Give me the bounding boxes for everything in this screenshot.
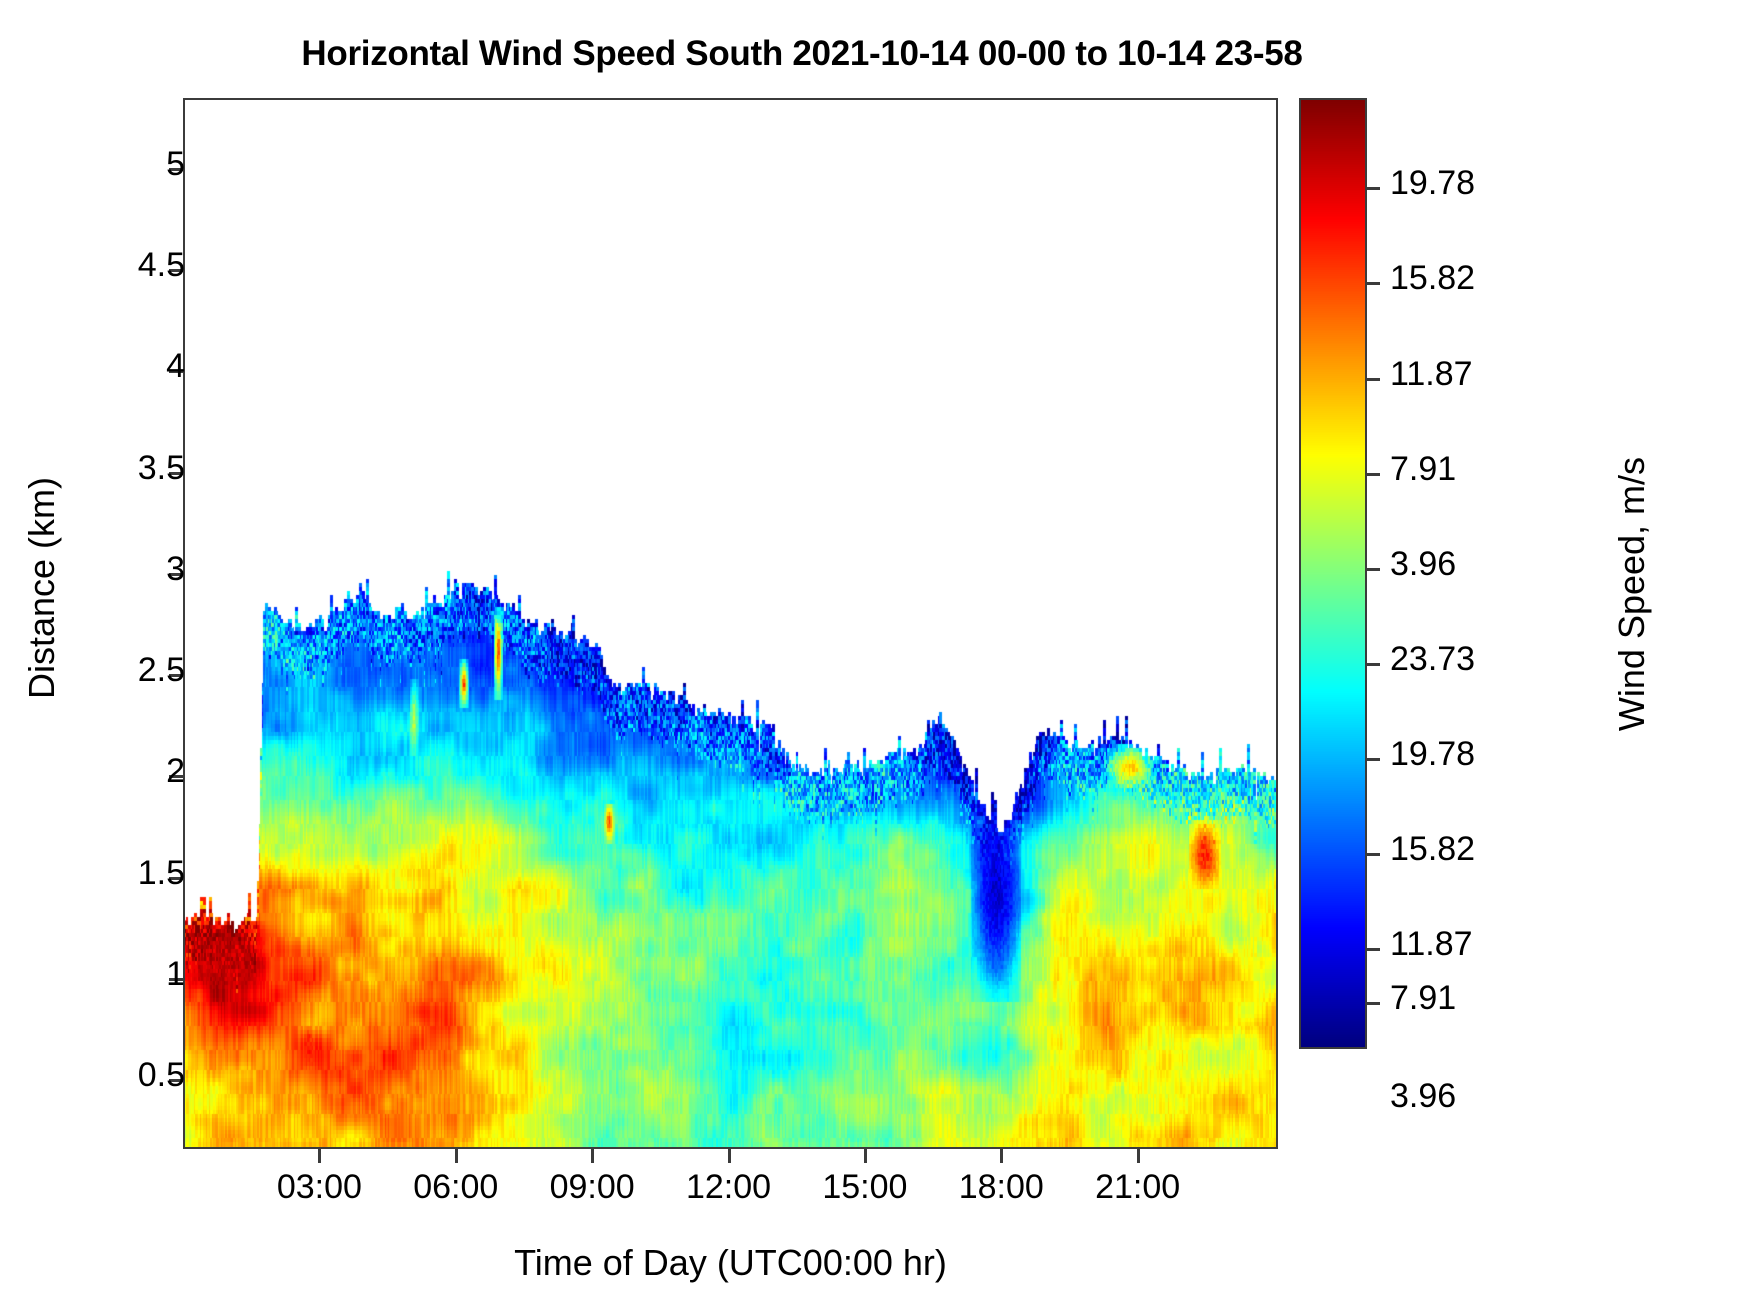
- x-tick-mark: [455, 1149, 458, 1163]
- colorbar-tick-label: 11.87: [1390, 355, 1473, 394]
- colorbar-tick-label: 3.96: [1390, 1077, 1456, 1116]
- colorbar-tick-mark: [1367, 948, 1380, 951]
- x-tick-mark: [591, 1149, 594, 1163]
- colorbar-tick-label: 19.78: [1390, 164, 1475, 203]
- colorbar-tick-mark: [1367, 853, 1380, 856]
- x-tick-label: 03:00: [277, 1168, 362, 1207]
- x-tick-mark: [318, 1149, 321, 1163]
- y-tick-label: 5: [166, 145, 185, 184]
- x-tick-mark: [1137, 1149, 1140, 1163]
- colorbar-tick-mark: [1367, 187, 1380, 190]
- x-tick-label: 09:00: [550, 1168, 635, 1207]
- colorbar-tick-label: 7.91: [1390, 450, 1456, 489]
- colorbar-tick-mark: [1367, 282, 1380, 285]
- colorbar-tick-mark: [1367, 473, 1380, 476]
- y-tick-label: 2: [166, 752, 185, 791]
- colorbar-tick-label: 19.78: [1390, 735, 1475, 774]
- colorbar-tick-label: 7.91: [1390, 979, 1456, 1018]
- x-tick-mark: [1000, 1149, 1003, 1163]
- x-tick-label: 12:00: [686, 1168, 771, 1207]
- x-tick-label: 06:00: [413, 1168, 498, 1207]
- colorbar-tick-mark: [1367, 568, 1380, 571]
- colorbar-tick-mark: [1367, 758, 1380, 761]
- plot-axes: [183, 98, 1278, 1149]
- figure-root: Horizontal Wind Speed South 2021-10-14 0…: [0, 0, 1750, 1313]
- y-tick-label: 4.5: [138, 246, 185, 285]
- y-tick-label: 4: [166, 347, 185, 386]
- y-tick-label: 2.5: [138, 651, 185, 690]
- y-tick-label: 1: [166, 955, 185, 994]
- y-tick-label: 3.5: [138, 449, 185, 488]
- colorbar-tick-label: 3.96: [1390, 545, 1456, 584]
- colorbar: [1299, 98, 1367, 1049]
- y-tick-label: 1.5: [138, 854, 185, 893]
- y-axis-label: Distance (km): [21, 378, 63, 798]
- colorbar-tick-mark: [1367, 663, 1380, 666]
- x-tick-mark: [728, 1149, 731, 1163]
- colorbar-tick-label: 15.82: [1390, 830, 1475, 869]
- x-tick-label: 18:00: [959, 1168, 1044, 1207]
- colorbar-tick-label: 23.73: [1390, 640, 1475, 679]
- colorbar-tick-label: 15.82: [1390, 259, 1475, 298]
- colorbar-gradient: [1301, 100, 1365, 1047]
- x-tick-label: 21:00: [1095, 1168, 1180, 1207]
- y-tick-label: 0.5: [138, 1056, 185, 1095]
- colorbar-tick-mark: [1367, 1002, 1380, 1005]
- chart-title: Horizontal Wind Speed South 2021-10-14 0…: [183, 34, 1421, 74]
- heatmap-canvas: [185, 100, 1276, 1147]
- y-tick-label: 3: [166, 550, 185, 589]
- x-axis-label: Time of Day (UTC00:00 hr): [183, 1242, 1278, 1284]
- x-tick-label: 15:00: [822, 1168, 907, 1207]
- colorbar-tick-label: 11.87: [1390, 925, 1473, 964]
- colorbar-label: Wind Speed, m/s: [1611, 284, 1653, 904]
- colorbar-tick-mark: [1367, 378, 1380, 381]
- x-tick-mark: [864, 1149, 867, 1163]
